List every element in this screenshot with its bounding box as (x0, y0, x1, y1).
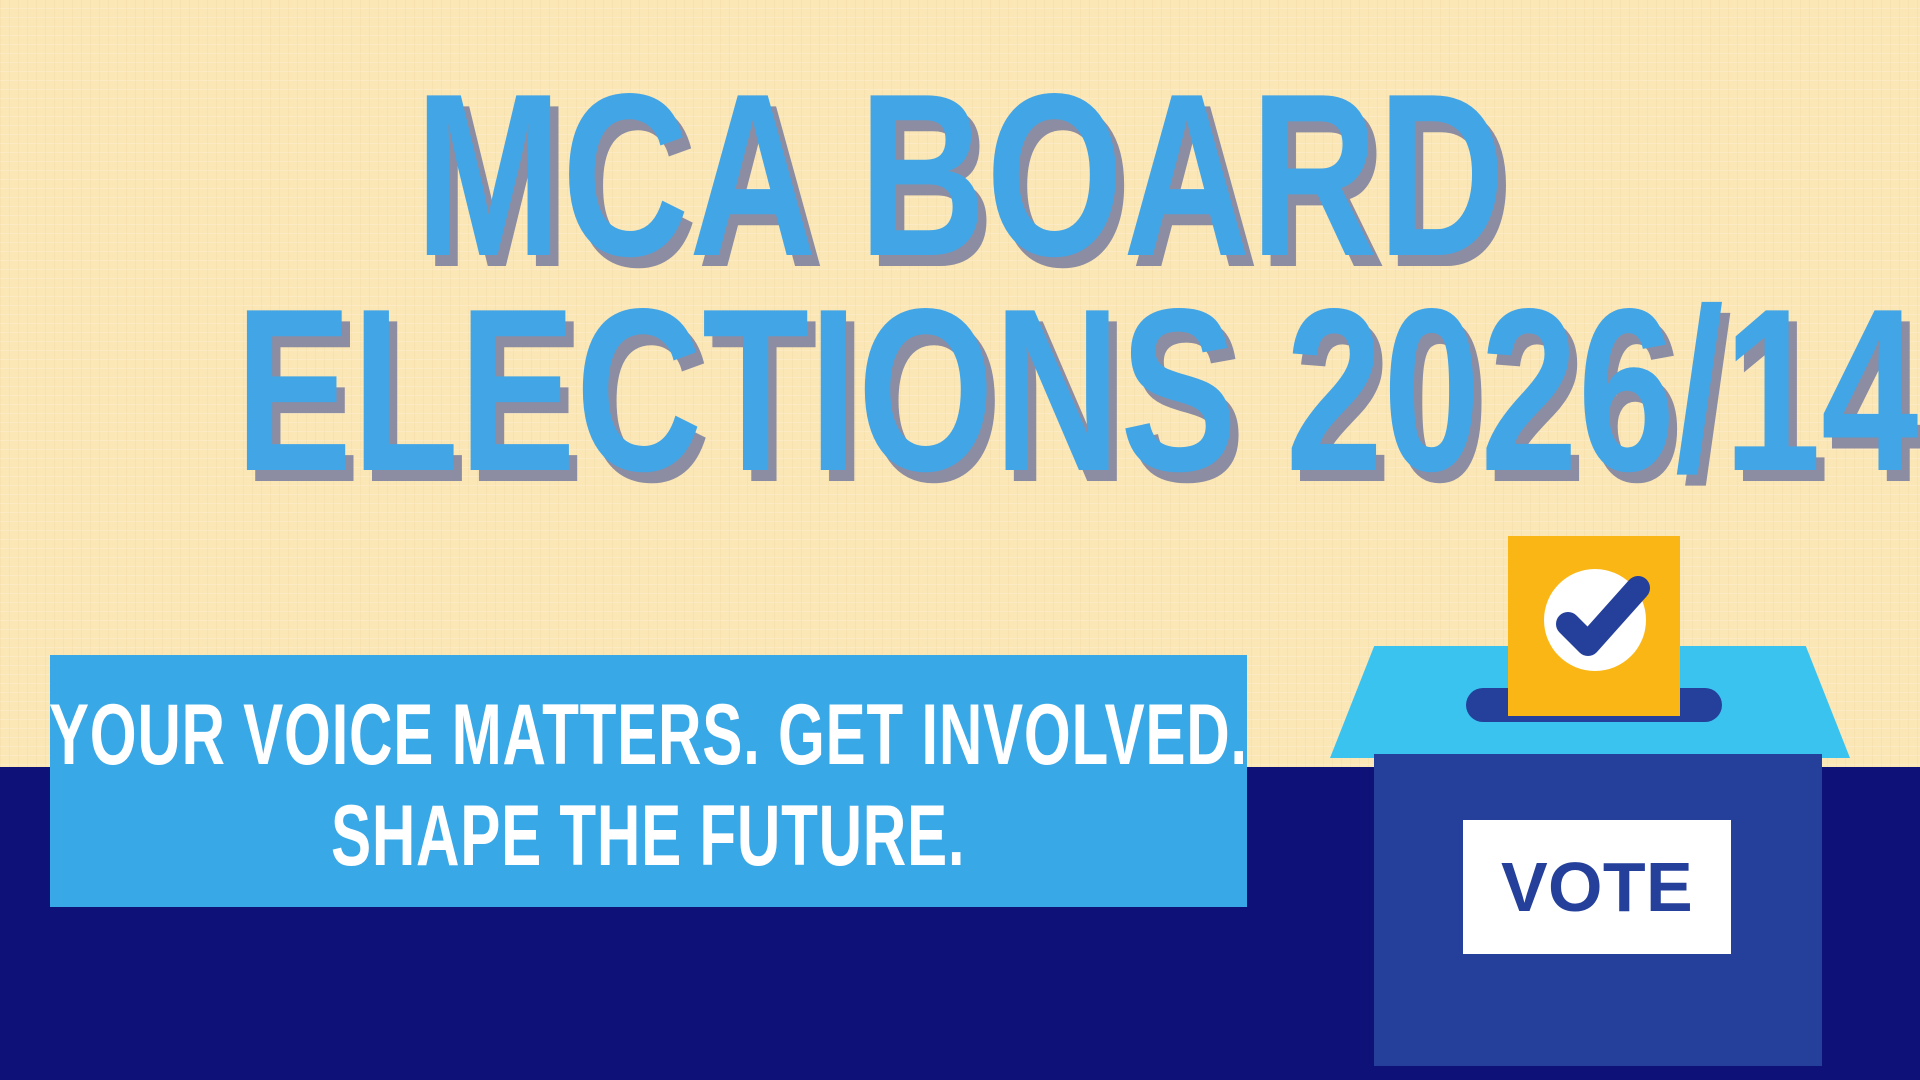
headline-line-1: MCA BOARD (230, 72, 1689, 281)
tagline-line-2: SHAPE THE FUTURE. (331, 786, 965, 887)
vote-label-text: VOTE (1501, 852, 1693, 922)
check-mark-icon (1544, 564, 1656, 676)
headline-line-2: ELECTIONS 2026/1448 (235, 287, 1685, 496)
page-title: MCA BOARD ELECTIONS 2026/1448 (0, 72, 1920, 496)
ballot-card (1508, 536, 1680, 716)
vote-label: VOTE (1463, 820, 1731, 954)
tagline-banner: YOUR VOICE MATTERS. GET INVOLVED. SHAPE … (50, 655, 1247, 907)
ballot-box-illustration: VOTE (1330, 520, 1850, 1080)
election-announcement-poster: MCA BOARD ELECTIONS 2026/1448 YOUR VOICE… (0, 0, 1920, 1080)
tagline-line-1: YOUR VOICE MATTERS. GET INVOLVED. (49, 685, 1248, 786)
